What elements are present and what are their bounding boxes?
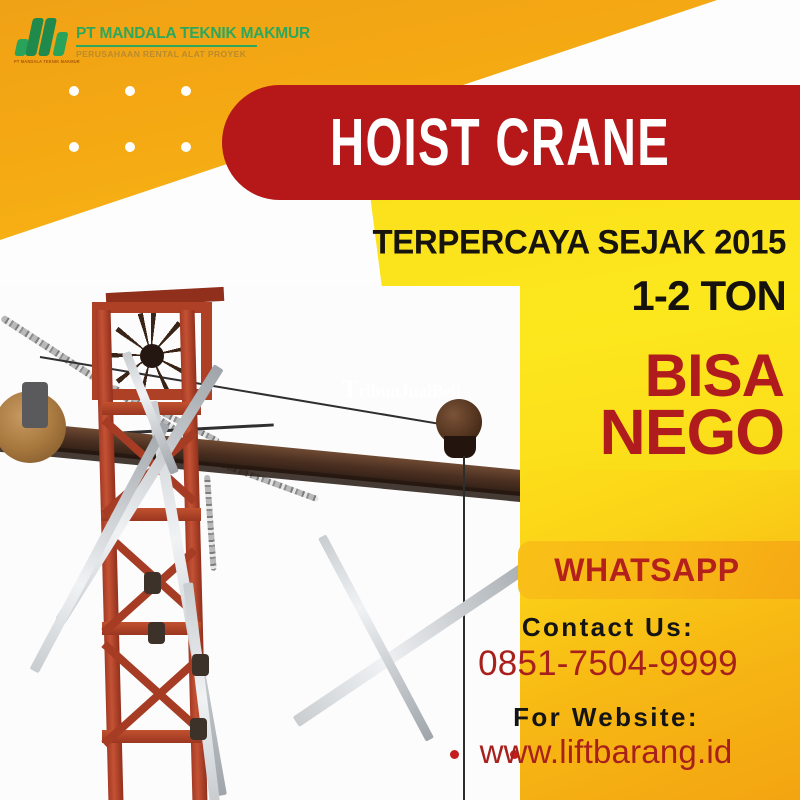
pulley-block xyxy=(444,436,476,458)
watermark-text: ribunJualBeli xyxy=(358,381,460,401)
grid-dot xyxy=(125,86,135,96)
crane-photo xyxy=(0,286,520,800)
website-label: For Website: xyxy=(456,703,756,733)
scaffold-clamp xyxy=(148,622,165,644)
contact-phone-number[interactable]: 0851-7504-9999 xyxy=(458,644,758,683)
company-logo: PT MANDALA TEKNIK MAKMUR xyxy=(14,14,70,72)
grid-dot xyxy=(181,142,191,152)
contact-label: Contact Us: xyxy=(458,613,758,643)
scaffold-clamp xyxy=(144,572,161,594)
grid-dot xyxy=(69,86,79,96)
negotiable-callout: BISA NEGO xyxy=(600,348,784,462)
grid-dot xyxy=(69,142,79,152)
whatsapp-button[interactable]: WHATSAPP xyxy=(518,541,800,599)
company-tagline: PERUSAHAAN RENTAL ALAT PROYEK xyxy=(76,49,326,59)
logo-caption: PT MANDALA TEKNIK MAKMUR xyxy=(14,59,71,64)
header-band: PT MANDALA TEKNIK MAKMUR PT MANDALA TEKN… xyxy=(0,0,800,88)
sheave-mount-bracket xyxy=(22,382,48,428)
scaffold-clamp xyxy=(192,654,209,676)
website-block: For Website: www.liftbarang.id xyxy=(456,703,756,771)
mandala-m-logo-icon xyxy=(14,14,66,56)
decorative-dot-grid xyxy=(69,86,237,198)
company-name: PT MANDALA TEKNIK MAKMUR xyxy=(76,26,326,42)
product-title: HOIST CRANE xyxy=(330,109,670,176)
company-identity: PT MANDALA TEKNIK MAKMUR PERUSAHAAN RENT… xyxy=(76,26,326,59)
trust-tagline: TERPERCAYA SEJAK 2015 xyxy=(373,222,786,262)
grid-dot xyxy=(181,86,191,96)
company-divider xyxy=(76,45,257,48)
title-banner: HOIST CRANE xyxy=(222,85,800,200)
watermark-initial: T xyxy=(342,376,358,403)
whatsapp-button-label: WHATSAPP xyxy=(554,554,740,586)
contact-block: Contact Us: 0851-7504-9999 xyxy=(458,613,758,683)
negotiable-line-2: NEGO xyxy=(600,403,784,462)
tribun-jualbeli-watermark: TribunJualBeli xyxy=(342,376,461,404)
scaffold-clamp xyxy=(190,718,207,740)
website-url[interactable]: www.liftbarang.id xyxy=(456,734,756,771)
capacity-label: 1-2 TON xyxy=(631,272,786,319)
grid-dot xyxy=(125,142,135,152)
advertisement-poster: TribunJualBeli PT MANDALA TEKNIK MAKMUR … xyxy=(0,0,800,800)
logo-bar xyxy=(52,32,68,56)
negotiable-line-1: BISA xyxy=(600,348,784,403)
